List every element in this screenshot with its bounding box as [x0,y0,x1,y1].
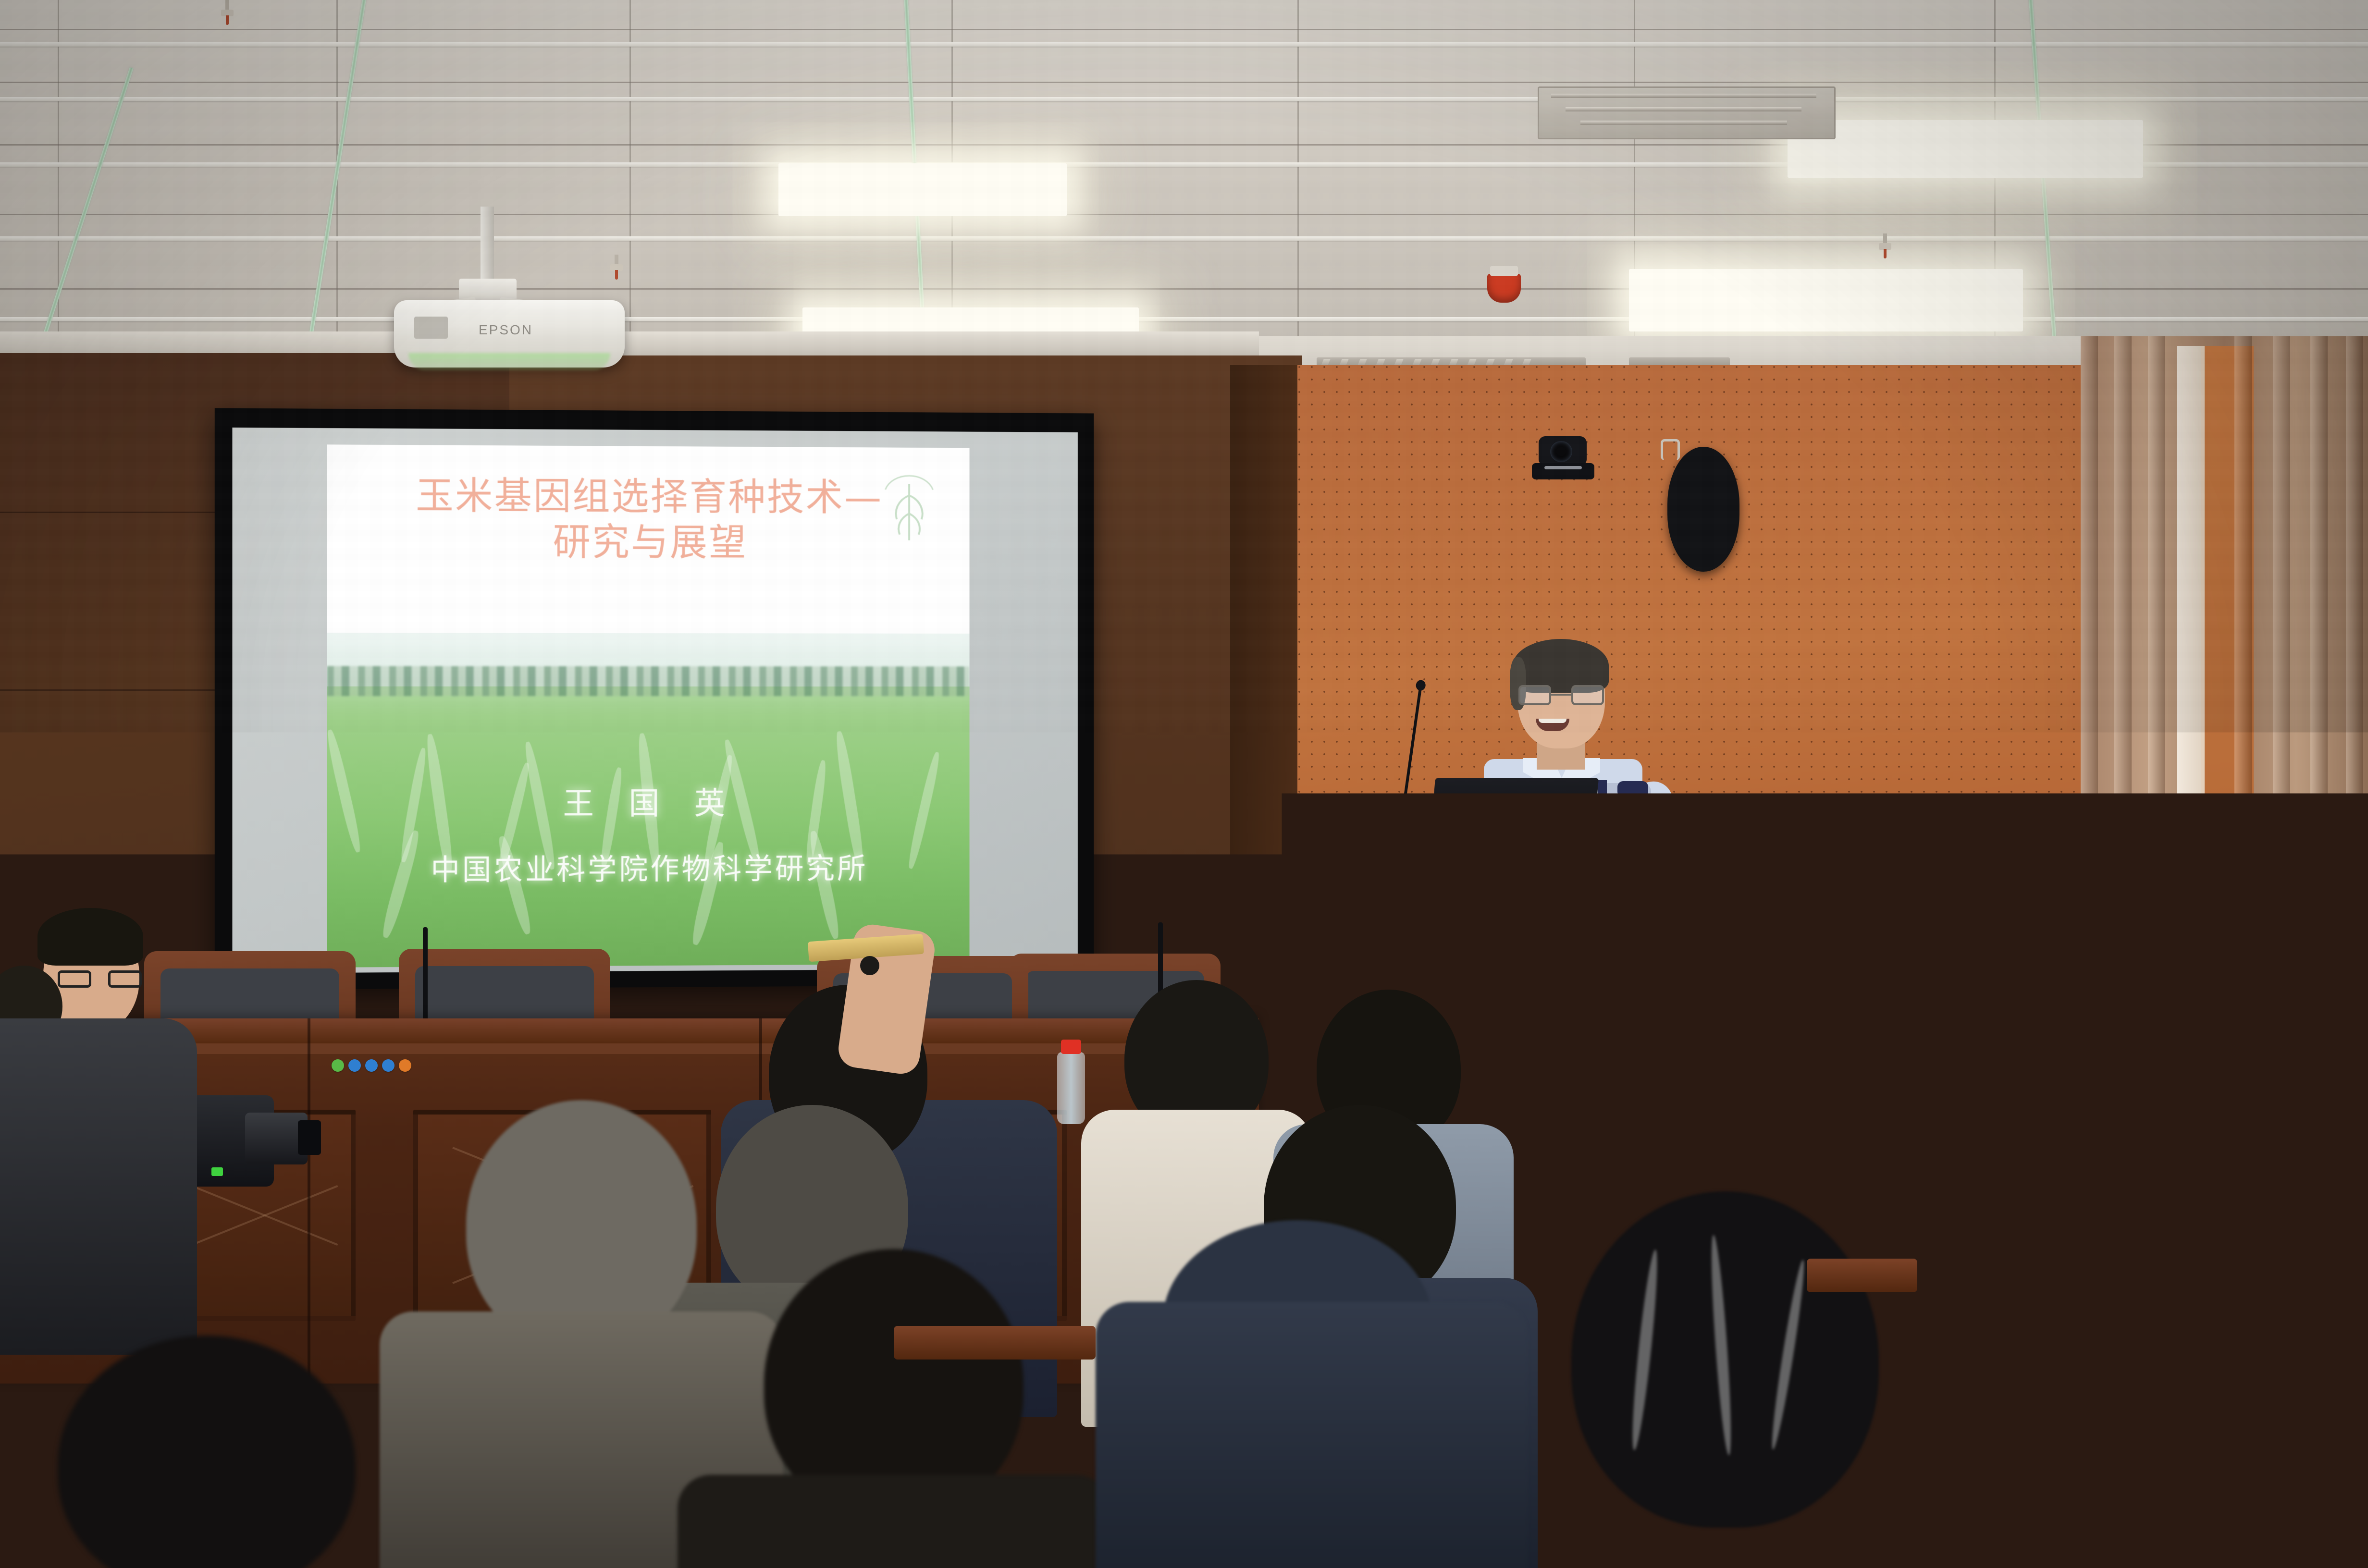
audience-chair-back [1807,1259,1917,1292]
foreground-audience-member [1514,1191,1946,1568]
videographer [0,908,187,1340]
slide-affiliation: 中国农业科学院作物科学研究所 [327,845,970,889]
projection-screen: 玉米基因组选择育种技术— 研究与展望 王 国 英 中国农业科学院作物科学研究所 [215,408,1094,990]
fire-sprinkler-icon [1879,233,1891,259]
projector: EPSON [394,300,625,367]
slide-title-line-2: 研究与展望 [366,519,931,567]
slide-presenter-name: 王 国 英 [327,778,970,823]
ceiling-light-panel [1629,269,2023,331]
ceiling [0,0,2368,380]
slide-title: 玉米基因组选择育种技术— 研究与展望 [366,473,931,567]
presentation-slide: 玉米基因组选择育种技术— 研究与展望 王 国 英 中国农业科学院作物科学研究所 [327,444,970,967]
lecture-hall-photo: 玉米基因组选择育种技术— 研究与展望 王 国 英 中国农业科学院作物科学研究所 … [0,0,2368,1568]
ptz-camera-icon [1532,436,1594,482]
ceiling-light-panel [778,163,1067,216]
presenter-laptop [1429,778,1599,855]
ceiling-light-panel [1788,120,2143,178]
audio-mixer-console [1844,817,2070,865]
desk-sticker-dots [332,1059,411,1072]
fire-sprinkler-icon [221,0,234,26]
wall-speaker-icon [1667,447,1739,572]
slide-title-line-1: 玉米基因组选择育种技术— [366,473,931,521]
foreground-audience-member [0,1335,432,1568]
foreground-audience-member [1961,1230,2368,1568]
projector-brand-label: EPSON [479,322,533,338]
projector-lens-icon [414,317,448,339]
foreground-audience-member [1096,1220,1528,1568]
fire-sprinkler-icon [610,255,623,281]
fire-alarm-bell-icon [1487,274,1521,303]
projector-mount-pole [481,207,494,283]
presenter-glasses-icon [1518,685,1604,706]
hvac-diffuser-icon [1538,86,1836,139]
audience-chair-back [1096,1249,1153,1489]
